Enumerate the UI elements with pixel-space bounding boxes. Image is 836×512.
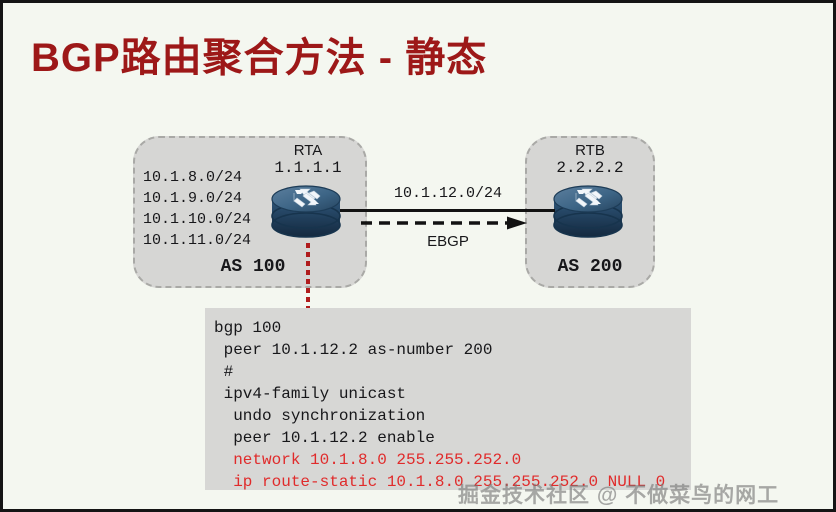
slide-canvas: BGP路由聚合方法 - 静态 10.1.8.0/24 10.1.9.0/24 1… xyxy=(0,0,836,512)
config-line: bgp 100 xyxy=(214,317,691,339)
link-network-label: 10.1.12.0/24 xyxy=(358,185,538,202)
router-label-rta: RTA xyxy=(258,142,358,159)
config-line: ipv4-family unicast xyxy=(214,383,691,405)
router-ip-rta: 1.1.1.1 xyxy=(253,159,363,177)
as-number-right: AS 200 xyxy=(520,257,660,277)
as-number-left: AS 100 xyxy=(183,257,323,277)
config-line: peer 10.1.12.2 enable xyxy=(214,427,691,449)
router-icon xyxy=(552,179,624,245)
inter-as-link xyxy=(340,209,555,212)
config-line-highlight: network 10.1.8.0 255.255.252.0 xyxy=(214,449,691,471)
router-icon xyxy=(270,179,342,245)
arrow-right-icon xyxy=(361,216,527,230)
prefix-list: 10.1.8.0/24 10.1.9.0/24 10.1.10.0/24 10.… xyxy=(143,167,251,251)
watermark: 掘金技术社区 @ 不做菜鸟的网工 xyxy=(458,479,779,509)
page-title: BGP路由聚合方法 - 静态 xyxy=(31,25,487,83)
config-line: # xyxy=(214,361,691,383)
config-line: undo synchronization xyxy=(214,405,691,427)
link-protocol-label: EBGP xyxy=(358,233,538,250)
config-connector-line xyxy=(306,243,310,311)
config-panel: bgp 100 peer 10.1.12.2 as-number 200 # i… xyxy=(205,308,691,490)
config-line: peer 10.1.12.2 as-number 200 xyxy=(214,339,691,361)
router-ip-rtb: 2.2.2.2 xyxy=(535,159,645,177)
router-label-rtb: RTB xyxy=(540,142,640,159)
